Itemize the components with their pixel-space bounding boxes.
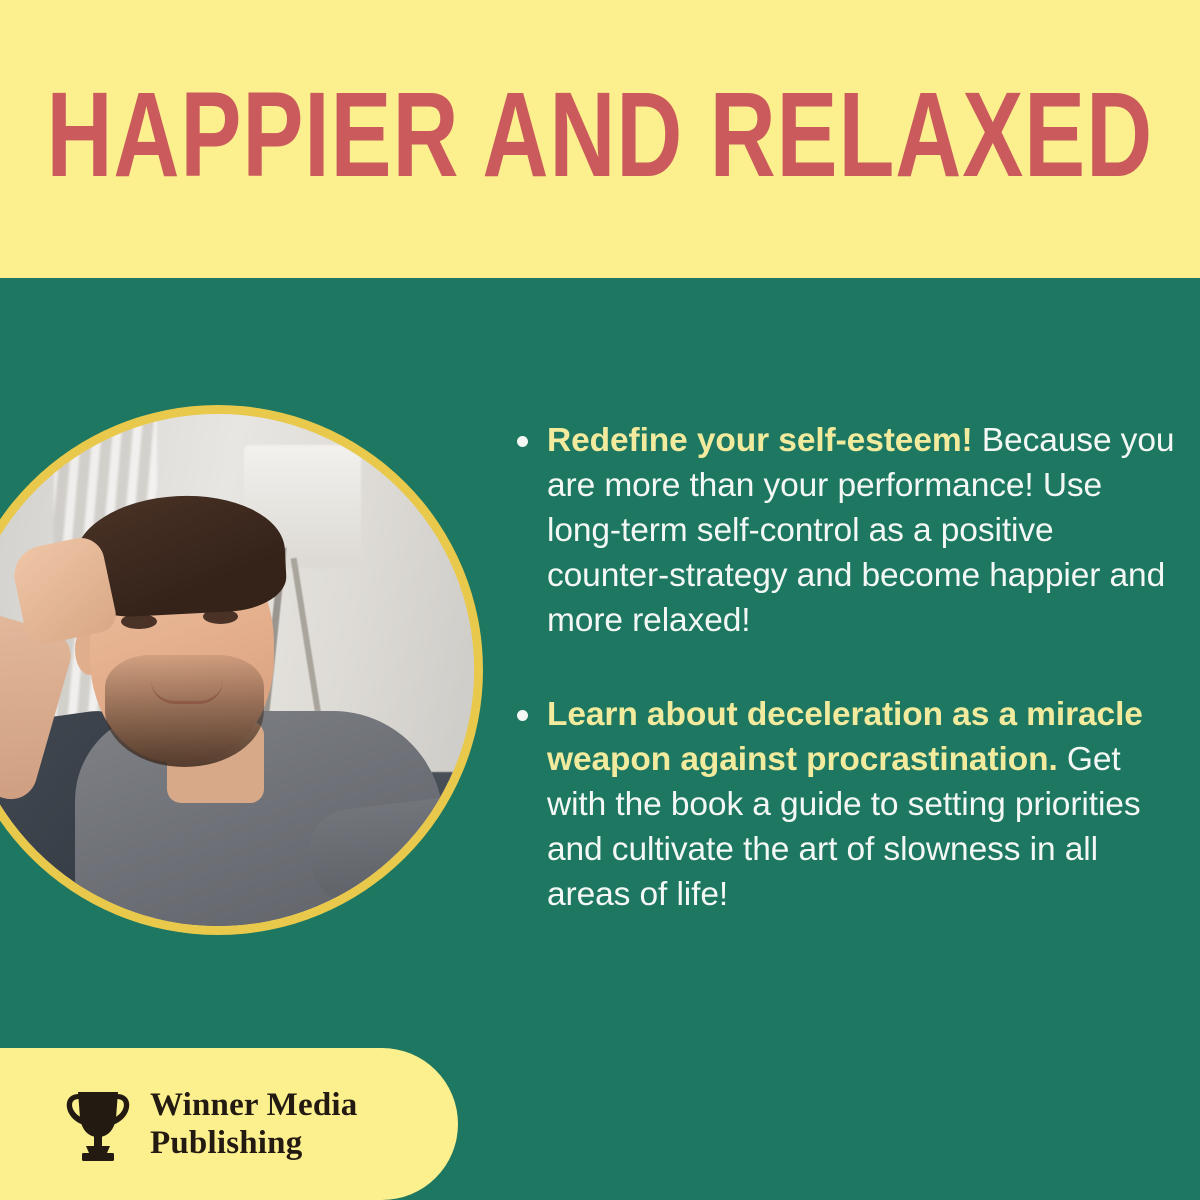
- brand-logo: Winner Media Publishing: [0, 1048, 458, 1200]
- brand-name: Winner Media Publishing: [150, 1086, 357, 1163]
- portrait-photo: [0, 414, 474, 926]
- bullet-dot-icon: [517, 436, 528, 447]
- benefits-list: Redefine your self-esteem! Because you a…: [505, 418, 1177, 917]
- brand-name-line2: Publishing: [150, 1124, 357, 1162]
- list-item: Learn about deceleration as a miracle we…: [505, 692, 1177, 917]
- bullet-dot-icon: [517, 710, 528, 721]
- list-item: Redefine your self-esteem! Because you a…: [505, 418, 1177, 643]
- header-band: HAPPIER AND RELAXED: [0, 0, 1200, 278]
- bullet-lead-text: Learn about deceleration as a miracle we…: [547, 696, 1143, 778]
- trophy-icon: [62, 1084, 134, 1164]
- brand-name-line1: Winner Media: [150, 1086, 357, 1124]
- portrait-ring: [0, 405, 483, 935]
- bullet-lead-text: Redefine your self-esteem!: [547, 422, 973, 459]
- page-title: HAPPIER AND RELAXED: [47, 75, 1154, 203]
- person-photo-icon: [0, 414, 474, 926]
- poster-canvas: HAPPIER AND RELAXED: [0, 0, 1200, 1200]
